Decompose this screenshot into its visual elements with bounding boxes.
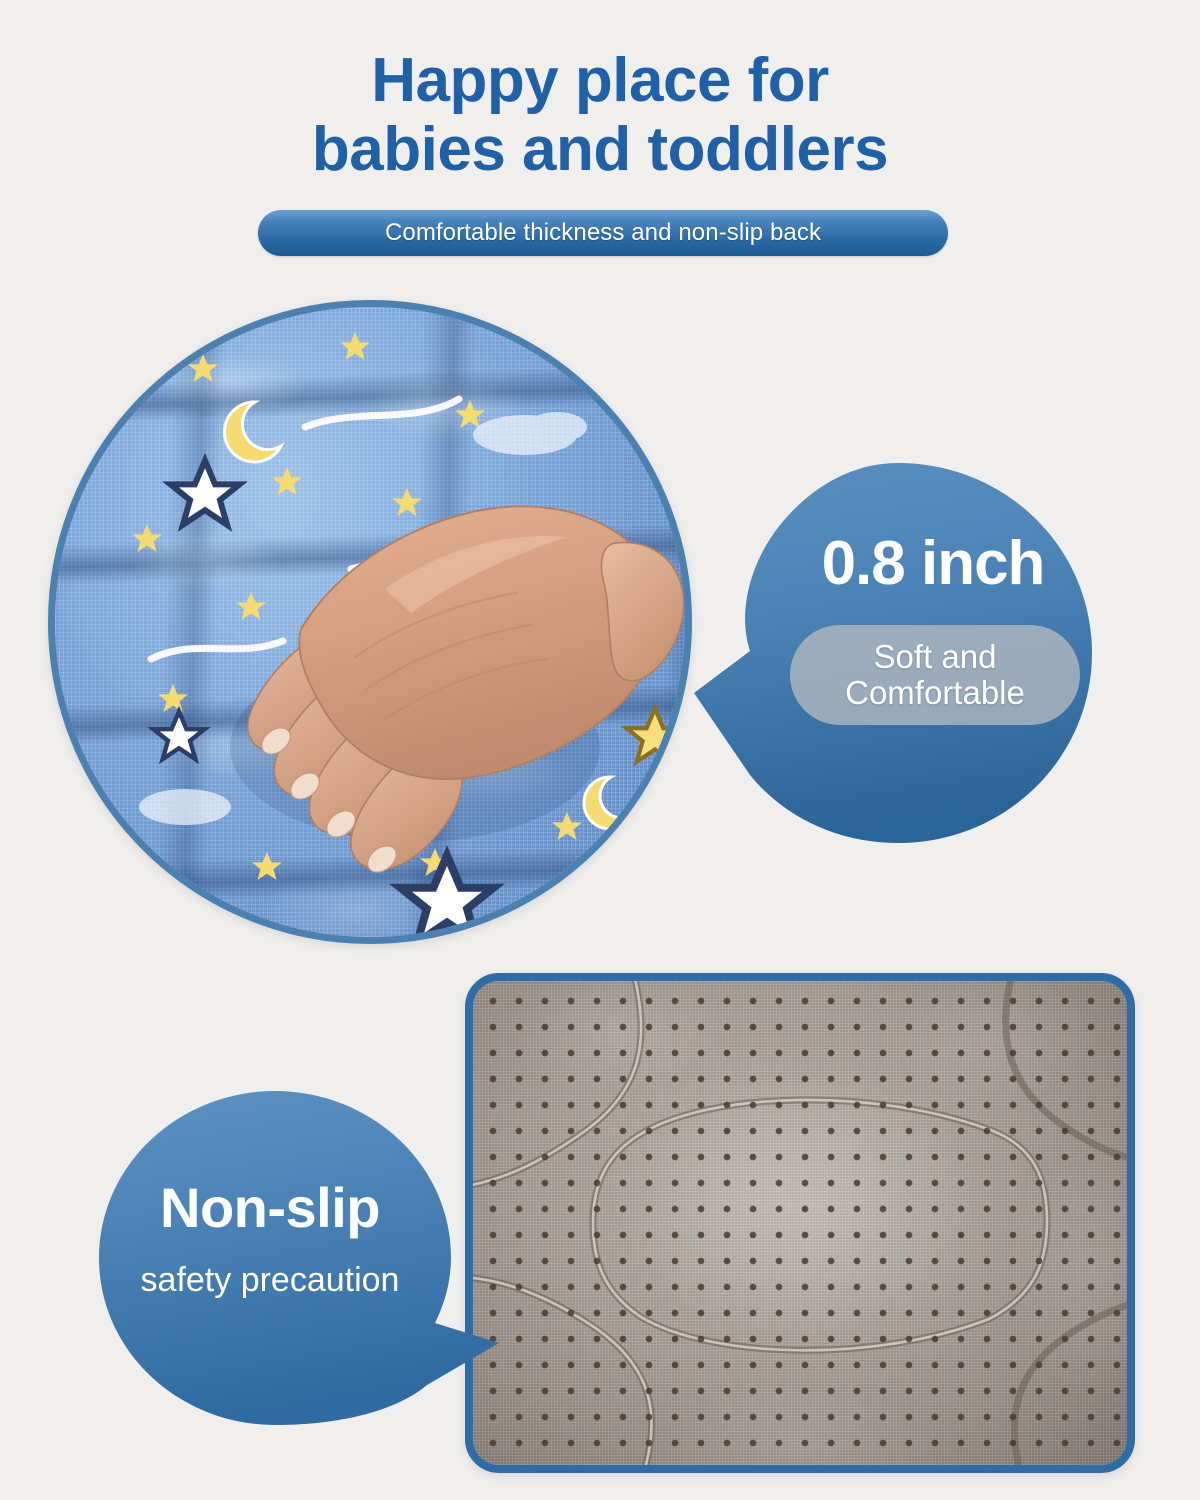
thickness-value: 0.8 inch	[768, 533, 1098, 595]
nonslip-title: Non-slip	[95, 1180, 445, 1236]
soft-comfortable-line-2: Comfortable	[845, 674, 1025, 711]
thickness-feature-section: 0.8 inch Soft and Comfortable	[0, 0, 1200, 960]
nonslip-dot-grip-texture	[465, 973, 1135, 1473]
hand-pressing-mattress	[55, 307, 685, 937]
nonslip-subtitle: safety precaution	[85, 1263, 455, 1297]
mattress-texture-photo	[48, 300, 692, 944]
soft-comfortable-line-1: Soft and	[874, 638, 997, 675]
nonslip-callout-bubble: Non-slip safety precaution	[75, 1085, 505, 1430]
thickness-callout-bubble: 0.8 inch Soft and Comfortable	[688, 455, 1100, 851]
nonslip-backing-photo	[465, 973, 1135, 1473]
soft-comfortable-pill: Soft and Comfortable	[790, 625, 1080, 725]
soft-comfortable-text: Soft and Comfortable	[845, 639, 1025, 712]
bubble-shape-right-pointer	[75, 1085, 505, 1430]
nonslip-feature-section: Non-slip safety precaution	[0, 955, 1200, 1500]
